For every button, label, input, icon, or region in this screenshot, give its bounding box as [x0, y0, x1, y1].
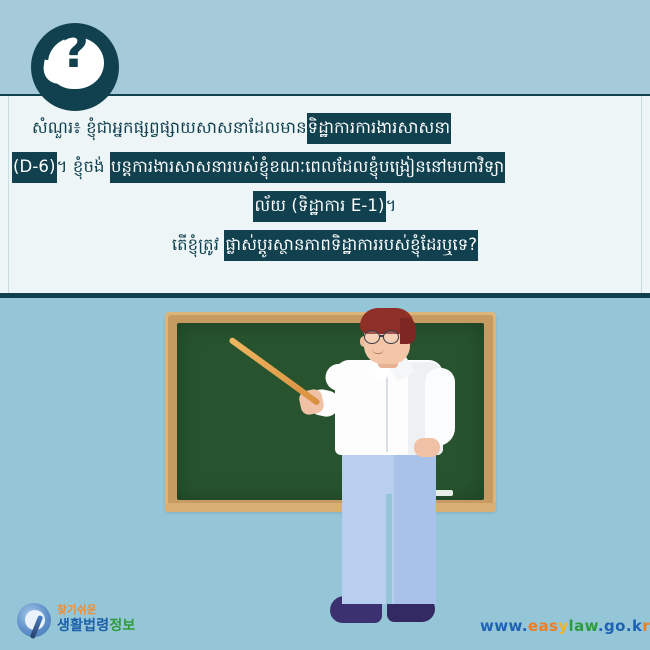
- eyeglasses-bridge: [379, 335, 384, 337]
- question-line-3: ល័យ (ទិដ្ឋាការ E-1)។: [6, 186, 644, 225]
- url-part-www: www.: [480, 617, 528, 635]
- website-url[interactable]: www.easylaw.go.kr: [480, 617, 650, 635]
- hand-right: [414, 438, 440, 457]
- q4-highlight: ផ្លាស់ប្ដូរស្ថានភាពទិដ្ឋាការរបស់ខ្ញុំដែរ…: [224, 230, 478, 261]
- q2-highlight-visa-code: (D-6): [12, 152, 57, 183]
- q3-plain: ។: [386, 196, 397, 215]
- url-part-law: law: [569, 617, 598, 635]
- question-line-4: តើខ្ញុំត្រូវ ផ្លាស់ប្ដូរស្ថានភាពទិដ្ឋាកា…: [6, 225, 644, 264]
- hair-side: [400, 318, 416, 344]
- eyeglasses-left-lens: [364, 330, 380, 344]
- q4-plain: តើខ្ញុំត្រូវ: [172, 235, 225, 254]
- logo-name-part2: 정보: [109, 618, 135, 634]
- url-part-eas: eas: [528, 617, 558, 635]
- easylaw-logo[interactable]: 찾기쉬운 생활법령정보: [17, 600, 197, 640]
- url-part-y: y: [558, 617, 568, 635]
- question-speech-bubble-icon: ?: [31, 23, 119, 111]
- url-part-k: k: [632, 617, 642, 635]
- question-line-1: សំណួរ៖ ខ្ញុំជាអ្នកផ្សព្វផ្សាយសាសនាដែលមាន…: [6, 108, 644, 147]
- trousers-leg-gap: [386, 494, 392, 604]
- question-text: សំណួរ៖ ខ្ញុំជាអ្នកផ្សព្វផ្សាយសាសនាដែលមាន…: [0, 108, 650, 264]
- question-panel: សំណួរ៖ ខ្ញុំជាអ្នកផ្សព្វផ្សាយសាសនាដែលមាន…: [0, 94, 650, 298]
- url-part-go: .go.: [598, 617, 632, 635]
- shirt-placket: [386, 368, 388, 452]
- arm-right: [425, 368, 455, 446]
- q1-highlight: ទិដ្ឋាការការងារសាសនា: [307, 113, 452, 144]
- eyeglasses-right-lens: [383, 330, 399, 344]
- q1-plain: សំណួរ៖ ខ្ញុំជាអ្នកផ្សព្វផ្សាយសាសនាដែលមាន: [32, 118, 307, 137]
- logo-name-part1: 생활법령: [57, 618, 109, 634]
- info-card: ? សំណួរ៖ ខ្ញុំជាអ្នកផ្សព្វផ្សាយសាសនាដែលម…: [0, 0, 650, 650]
- q3-highlight: ល័យ (ទិដ្ឋាការ E-1): [253, 191, 385, 222]
- teacher-figure: [0, 298, 650, 650]
- trousers-shading: [394, 448, 436, 604]
- url-part-r: r: [642, 617, 650, 635]
- pointer-stick: [228, 337, 321, 407]
- illustration-teacher-at-chalkboard: [0, 298, 650, 650]
- question-line-2: (D-6)។ ខ្ញុំចង់ បន្តការងារសាសនារបស់ខ្ញុំ…: [6, 147, 644, 186]
- question-mark-glyph: ?: [31, 27, 119, 75]
- q2-plain: ។ ខ្ញុំចង់: [57, 157, 110, 176]
- q2-highlight: បន្តការងារសាសនារបស់ខ្ញុំខណៈពេលដែលខ្ញុំបង…: [110, 152, 505, 183]
- logo-name: 생활법령정보: [57, 615, 136, 635]
